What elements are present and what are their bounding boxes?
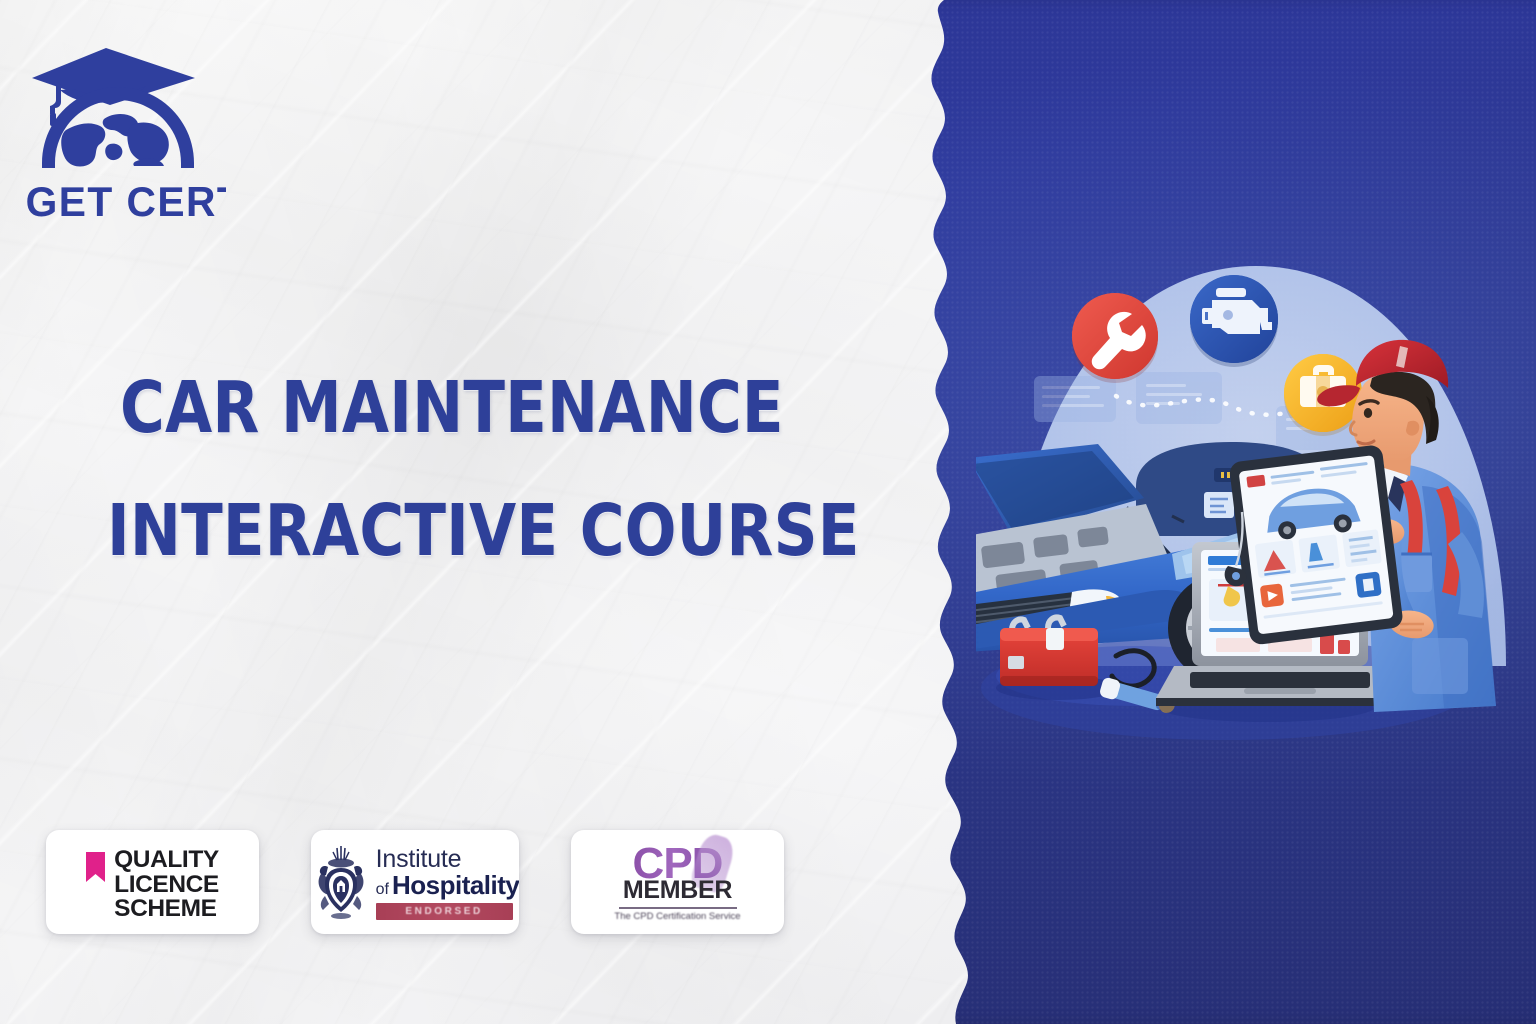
ioh-of: of: [376, 882, 389, 898]
badge-institute-of-hospitality[interactable]: Institute of Hospitality ENDORSED: [311, 830, 519, 934]
brand-logo[interactable]: GET CERTIFY: [14, 34, 226, 226]
qls-line-1: QUALITY: [114, 847, 219, 872]
qls-line-3: SCHEME: [114, 896, 219, 921]
title-line-2: INTERACTIVE COURSE: [107, 495, 826, 566]
cpd-divider: [619, 907, 737, 908]
qls-line-2: LICENCE: [114, 872, 219, 897]
course-illustration: [976, 236, 1536, 756]
bookmark-ribbon-icon: [86, 852, 105, 882]
ioh-endorsed-banner: ENDORSED: [376, 903, 513, 920]
heraldic-crest-icon: [311, 846, 371, 920]
poster-canvas: GET CERTIFY CAR MAINTENANCE INTERACTIVE …: [0, 0, 1536, 1024]
graduation-cap-globe-icon: [32, 48, 195, 168]
ioh-banner-text: ENDORSED: [405, 906, 482, 917]
cpd-caption: The CPD Certification Service: [614, 912, 740, 923]
icon-badge-engine: [1190, 275, 1278, 367]
badge-cpd-member[interactable]: CPD MEMBER The CPD Certification Service: [571, 830, 784, 934]
tablet-diagnostics: [1229, 444, 1404, 645]
icon-badge-wrench: [1072, 293, 1158, 383]
ioh-line-2: Hospitality: [392, 872, 519, 898]
badge-quality-licence-scheme[interactable]: QUALITY LICENCE SCHEME: [46, 830, 259, 934]
ioh-line-1: Institute: [376, 847, 462, 872]
page-title: CAR MAINTENANCE INTERACTIVE COURSE: [120, 372, 860, 566]
title-line-1: CAR MAINTENANCE: [120, 372, 827, 443]
logo-wordmark: GET CERTIFY: [26, 178, 226, 225]
cpd-subtitle: MEMBER: [623, 876, 732, 905]
accreditation-badges: QUALITY LICENCE SCHEME: [46, 830, 784, 934]
